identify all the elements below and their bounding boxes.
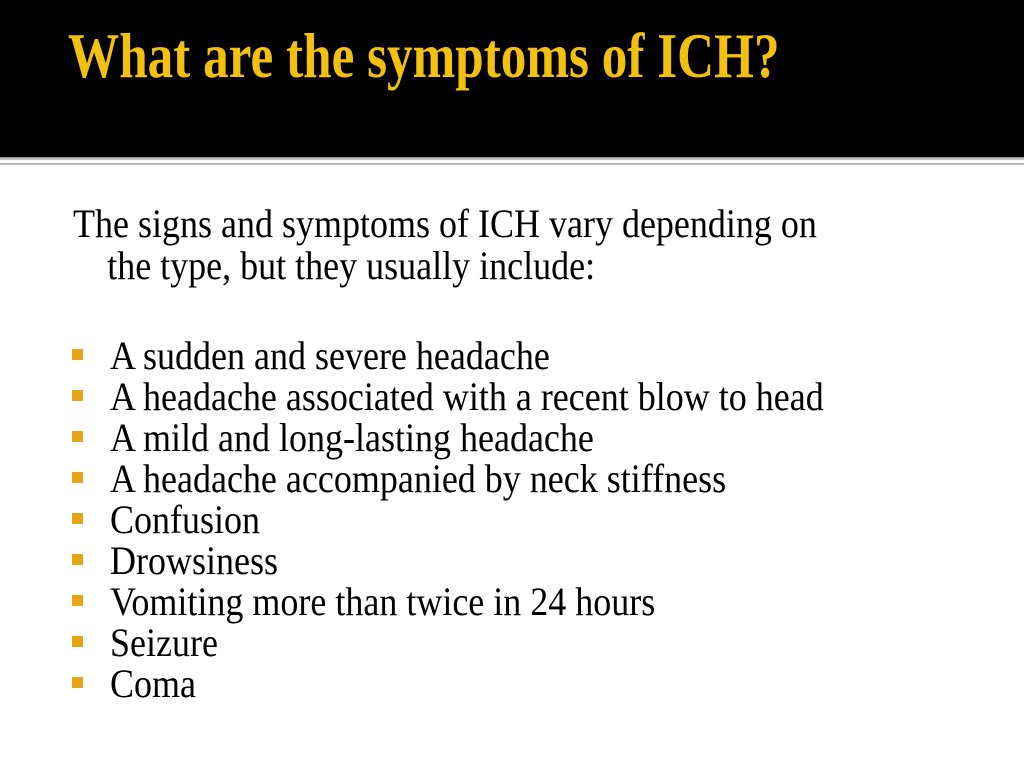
square-bullet-icon	[72, 390, 83, 401]
slide-header-band: What are the symptoms of ICH?	[0, 0, 1024, 157]
list-item: Drowsiness	[70, 540, 1000, 581]
symptom-bullet-list: A sudden and severe headache A headache …	[70, 335, 1000, 704]
list-item-label: Drowsiness	[110, 540, 278, 581]
list-item-label: Seizure	[110, 622, 218, 663]
square-bullet-icon	[72, 677, 83, 688]
list-item: A headache associated with a recent blow…	[70, 376, 1000, 417]
square-bullet-icon	[72, 431, 83, 442]
intro-paragraph: The signs and symptoms of ICH vary depen…	[73, 203, 908, 287]
list-item-label: A mild and long-lasting headache	[110, 417, 594, 458]
list-item: Vomiting more than twice in 24 hours	[70, 581, 1000, 622]
slide-title: What are the symptoms of ICH?	[68, 21, 788, 91]
list-item-label: Confusion	[110, 499, 260, 540]
list-item-label: A headache associated with a recent blow…	[110, 376, 824, 417]
square-bullet-icon	[72, 472, 83, 483]
square-bullet-icon	[72, 513, 83, 524]
slide-body: The signs and symptoms of ICH vary depen…	[0, 165, 1024, 768]
square-bullet-icon	[72, 636, 83, 647]
square-bullet-icon	[72, 349, 83, 360]
list-item: A sudden and severe headache	[70, 335, 1000, 376]
list-item-label: A headache accompanied by neck stiffness	[110, 458, 726, 499]
list-item: Seizure	[70, 622, 1000, 663]
intro-paragraph-line-1: The signs and symptoms of ICH vary depen…	[73, 203, 908, 245]
list-item-label: Vomiting more than twice in 24 hours	[110, 581, 655, 622]
list-item-label: A sudden and severe headache	[110, 335, 550, 376]
intro-paragraph-line-2: the type, but they usually include:	[107, 243, 595, 288]
square-bullet-icon	[72, 595, 83, 606]
presentation-slide: What are the symptoms of ICH? The signs …	[0, 0, 1024, 768]
list-item: A mild and long-lasting headache	[70, 417, 1000, 458]
list-item: A headache accompanied by neck stiffness	[70, 458, 1000, 499]
list-item-label: Coma	[110, 663, 196, 704]
square-bullet-icon	[72, 554, 83, 565]
list-item: Coma	[70, 663, 1000, 704]
list-item: Confusion	[70, 499, 1000, 540]
